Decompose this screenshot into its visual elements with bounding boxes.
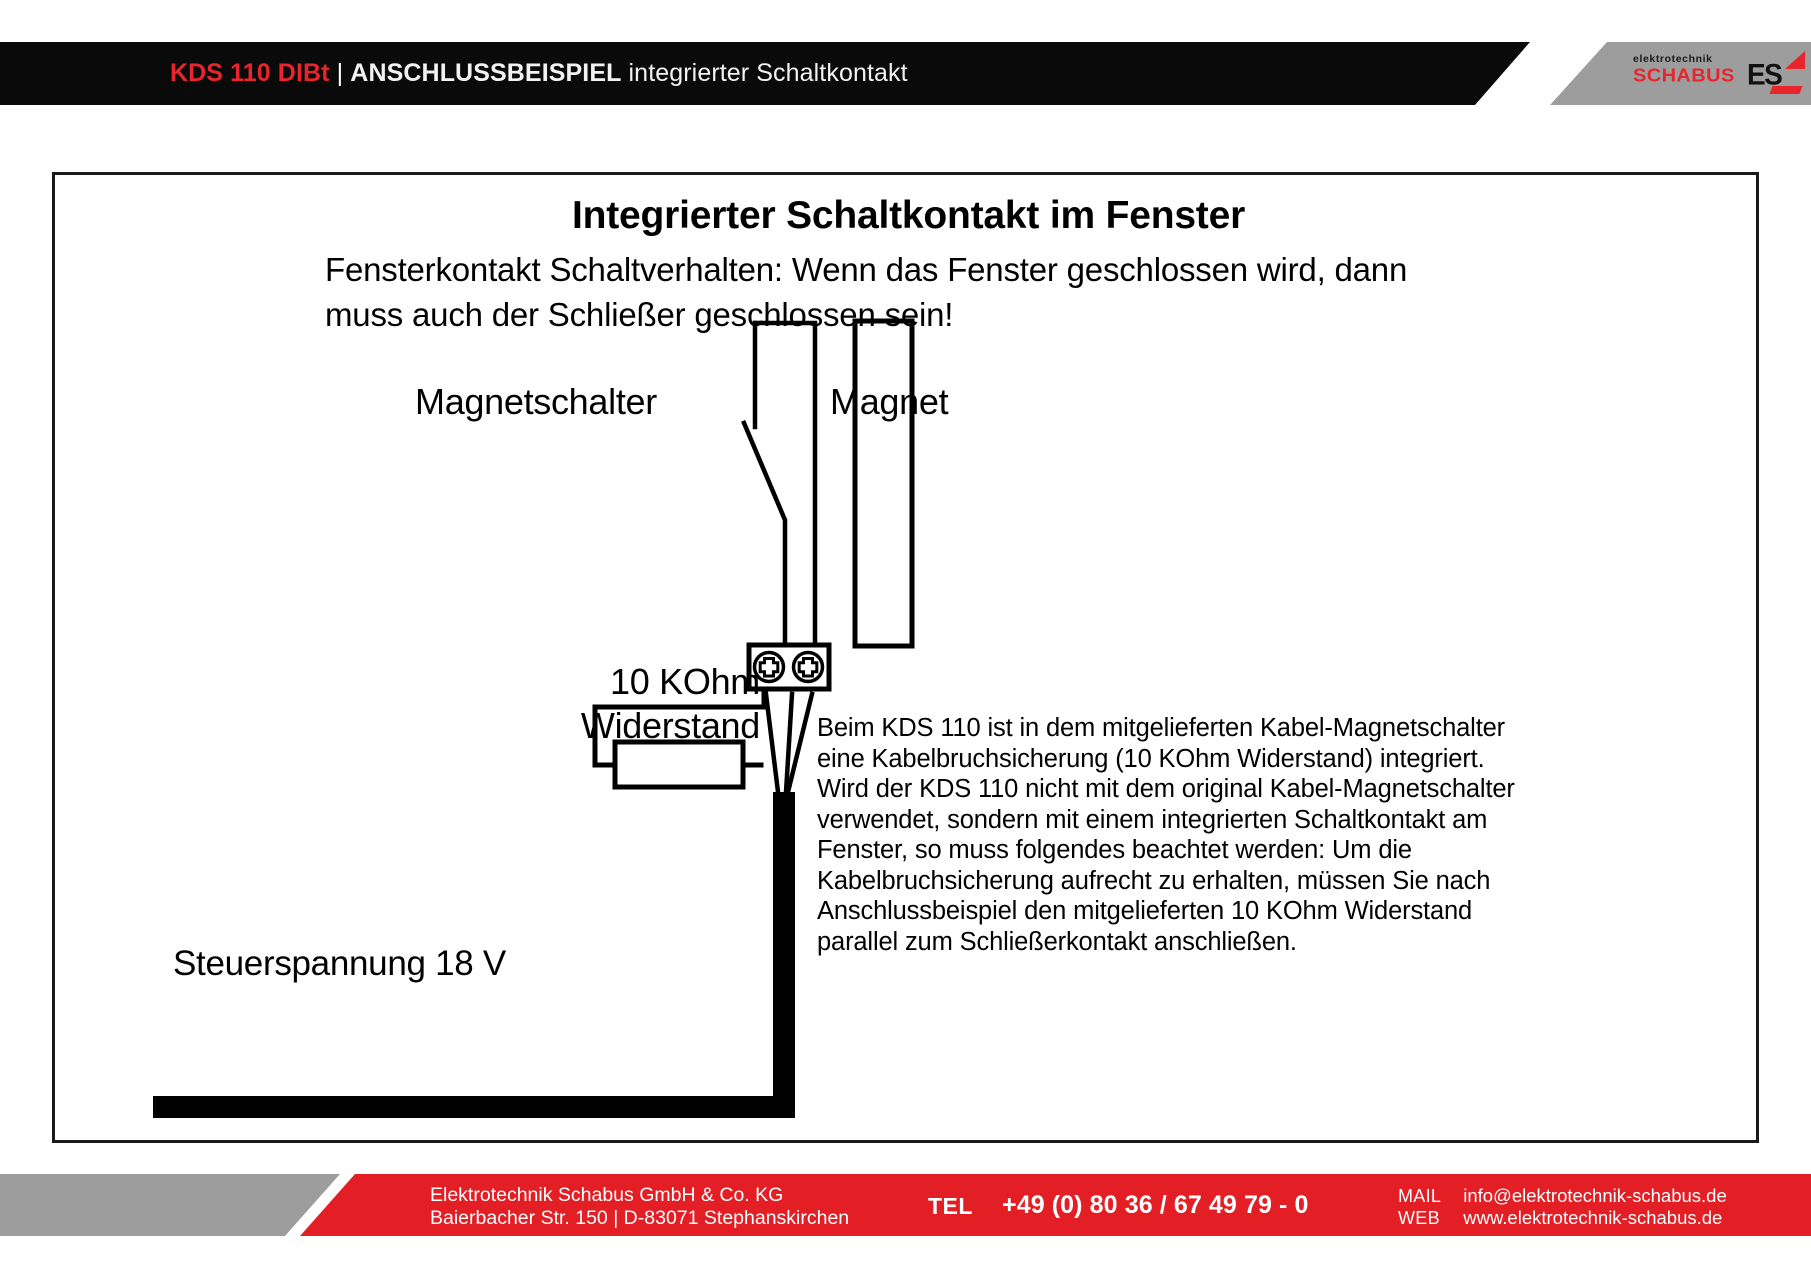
- wiring-diagram: [55, 175, 1762, 1146]
- wiring-diagram-svg: [55, 175, 1762, 1146]
- content-panel: Integrierter Schaltkontakt im Fenster Fe…: [52, 172, 1759, 1143]
- switch-contact-arm: [744, 423, 785, 645]
- footer-tel-label: TEL: [928, 1193, 973, 1220]
- logo-inner: elektrotechnik SCHABUS ES: [1633, 50, 1811, 98]
- label-magnet: Magnet: [830, 381, 948, 423]
- footer-contact-values: info@elektrotechnik-schabus.de www.elekt…: [1463, 1185, 1727, 1229]
- footer-address-block: Elektrotechnik Schabus GmbH & Co. KG Bai…: [430, 1184, 849, 1230]
- header-doc-subject: integrierter Schaltkontakt: [629, 59, 908, 87]
- header-product-name: KDS 110 DIBt: [170, 59, 330, 87]
- header-doc-type: ANSCHLUSSBEISPIEL: [350, 59, 621, 87]
- footer-tel-value[interactable]: +49 (0) 80 36 / 67 49 79 - 0: [1002, 1191, 1309, 1220]
- footer-street-city: Baierbacher Str. 150 | D-83071 Stephansk…: [430, 1207, 849, 1230]
- footer-gray-band: [0, 1174, 340, 1236]
- logo-line-elektrotechnik: elektrotechnik: [1633, 53, 1741, 65]
- logo-line-schabus: SCHABUS: [1633, 67, 1741, 86]
- header-separator: |: [337, 59, 344, 87]
- logo-es-mark: ES: [1743, 50, 1811, 96]
- company-logo: elektrotechnik SCHABUS ES: [1550, 42, 1811, 105]
- resistor-body: [615, 742, 743, 787]
- footer-company-name: Elektrotechnik Schabus GmbH & Co. KG: [430, 1184, 849, 1207]
- label-supply-voltage: Steuerspannung 18 V: [173, 944, 506, 984]
- logo-red-parallelogram-icon: [1769, 86, 1802, 94]
- note-text: Beim KDS 110 ist in dem mitgelieferten K…: [817, 713, 1517, 957]
- footer-web-label: WEB: [1398, 1207, 1441, 1229]
- footer-web-value[interactable]: www.elektrotechnik-schabus.de: [1463, 1207, 1727, 1229]
- logo-red-triangle-icon: [1785, 51, 1805, 69]
- magnet-block: [855, 321, 912, 646]
- footer-contact-keys: MAIL WEB: [1398, 1185, 1441, 1229]
- terminal-wire-left: [766, 694, 778, 792]
- page-footer: Elektrotechnik Schabus GmbH & Co. KG Bai…: [0, 1174, 1811, 1236]
- footer-mail-label: MAIL: [1398, 1185, 1441, 1207]
- footer-mail-value[interactable]: info@elektrotechnik-schabus.de: [1463, 1185, 1727, 1207]
- label-magnetschalter: Magnetschalter: [415, 381, 657, 423]
- logo-wordmark: elektrotechnik SCHABUS: [1633, 53, 1741, 87]
- header-title: KDS 110 DIBt | ANSCHLUSSBEISPIEL integri…: [170, 42, 908, 105]
- label-resistor: 10 KOhm Widerstand: [485, 660, 760, 748]
- page-header: KDS 110 DIBt | ANSCHLUSSBEISPIEL integri…: [0, 42, 1811, 105]
- footer-contact-block: MAIL WEB info@elektrotechnik-schabus.de …: [1398, 1185, 1727, 1229]
